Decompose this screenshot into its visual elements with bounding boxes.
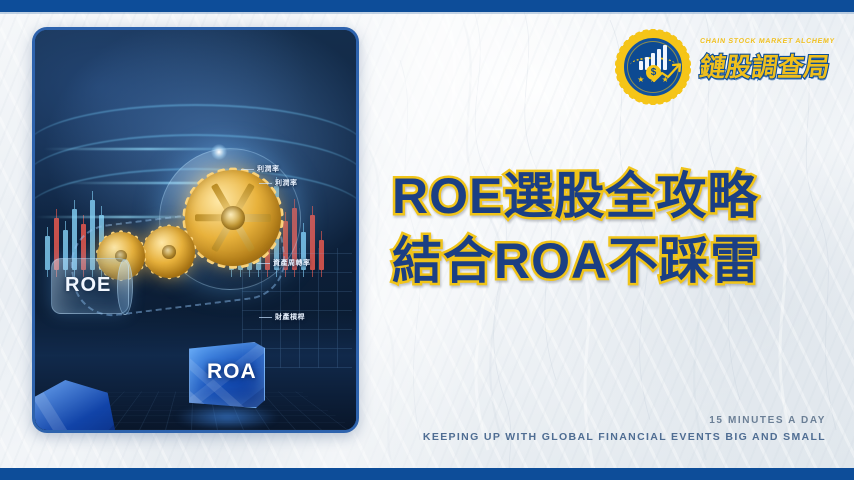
cube-glow (175, 404, 279, 430)
sphere-sparkle (211, 144, 227, 160)
page-title: ROE選股全攻略 結合ROA不踩雷 (392, 170, 761, 288)
tagline-line-1: 15 MINUTES A DAY (423, 415, 826, 426)
illustration-annotation: 資產周轉率 (273, 258, 311, 268)
brand-chinese-name: 鏈股調查局 (697, 47, 830, 84)
star-icon: ★ (649, 76, 656, 84)
roa-label: ROA (207, 360, 257, 384)
illustration-annotation: 財產槓桿 (275, 312, 305, 322)
gear-hub (162, 245, 176, 259)
cylinder-cap (117, 259, 133, 315)
bar-chart-column (639, 61, 643, 70)
brand-text: CHAIN STOCK MARKET ALCHEMY 鏈股調查局 (700, 38, 828, 84)
badge-stars: ★★★ (637, 76, 669, 84)
gear-medium (143, 226, 195, 278)
tagline-line-2: KEEPING UP WITH GLOBAL FINANCIAL EVENTS … (423, 431, 826, 443)
star-icon: ★ (637, 76, 644, 84)
annotation-leader-line (259, 317, 272, 318)
bottom-accent-bar (0, 468, 854, 480)
badge-inner-circle: $ ★★★ (627, 41, 679, 93)
roe-label: ROE (65, 274, 111, 297)
star-icon: ★ (662, 76, 669, 84)
illustration-annotation: 利潤率 (275, 178, 298, 188)
roe-roa-gears-3d-illustration: ROE ROA 利潤率利潤率資產周轉率財產槓桿 (35, 30, 356, 430)
gear-large (185, 170, 281, 266)
title-line-2: 結合ROA不踩雷 (392, 235, 761, 288)
tagline: 15 MINUTES A DAY KEEPING UP WITH GLOBAL … (423, 415, 826, 443)
annotation-leader-line (257, 263, 270, 264)
illustration-annotation: 利潤率 (257, 164, 280, 174)
top-accent-bar (0, 0, 854, 12)
candlestick (45, 236, 50, 270)
annotation-leader-line (259, 183, 272, 184)
chain-stock-market-alchemy-badge: $ ★★★ (616, 30, 690, 104)
brand-logo[interactable]: $ ★★★ CHAIN STOCK MARKET ALCHEMY 鏈股調查局 (616, 28, 828, 106)
illustration-panel: ROE ROA 利潤率利潤率資產周轉率財產槓桿 (32, 27, 359, 433)
brand-english-name: CHAIN STOCK MARKET ALCHEMY (700, 38, 829, 45)
title-line-1: ROE選股全攻略 (392, 170, 761, 223)
annotation-leader-line (241, 169, 254, 170)
